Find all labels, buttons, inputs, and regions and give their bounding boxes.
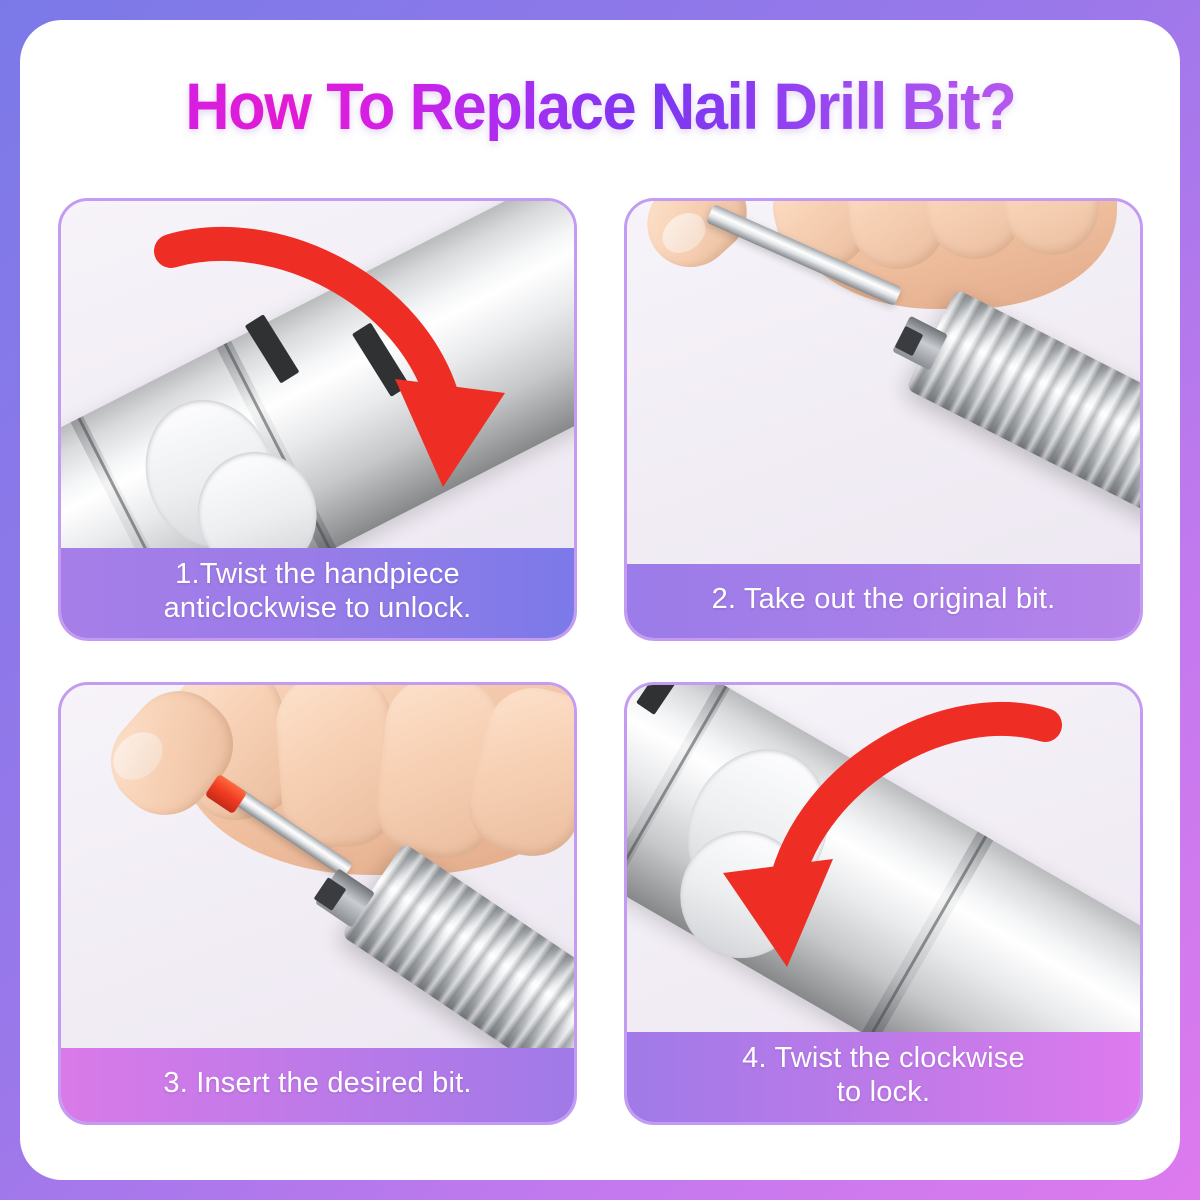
step-panel-1[interactable]: 1.Twist the handpiece anticlockwise to u… (58, 198, 577, 641)
steps-grid: 1.Twist the handpiece anticlockwise to u… (58, 198, 1143, 1125)
step-2-caption-line-1: 2. Take out the original bit. (641, 583, 1126, 617)
step-2-caption: 2. Take out the original bit. (627, 564, 1140, 638)
step-panel-4[interactable]: 4. Twist the clockwise to lock. (624, 682, 1143, 1125)
rotation-arrow-icon (705, 703, 1085, 1003)
step-panel-2[interactable]: 2. Take out the original bit. (624, 198, 1143, 641)
rotation-arrow-icon (153, 225, 533, 525)
step-1-caption-line-2: anticlockwise to unlock. (75, 592, 560, 626)
handpiece-grip (906, 289, 1140, 525)
step-1-caption: 1.Twist the handpiece anticlockwise to u… (61, 548, 574, 638)
step-3-caption: 3. Insert the desired bit. (61, 1048, 574, 1122)
page-title-container: How To Replace Nail Drill Bit? (20, 72, 1180, 141)
step-1-caption-line-1: 1.Twist the handpiece (75, 558, 560, 592)
step-4-caption-line-1: 4. Twist the clockwise (641, 1042, 1126, 1076)
page-title: How To Replace Nail Drill Bit? (185, 72, 1015, 141)
step-3-caption-line-1: 3. Insert the desired bit. (75, 1067, 560, 1101)
step-4-caption-line-2: to lock. (641, 1076, 1126, 1110)
step-panel-3[interactable]: 3. Insert the desired bit. (58, 682, 577, 1125)
step-4-caption: 4. Twist the clockwise to lock. (627, 1032, 1140, 1122)
instruction-card: How To Replace Nail Drill Bit? (20, 20, 1180, 1180)
